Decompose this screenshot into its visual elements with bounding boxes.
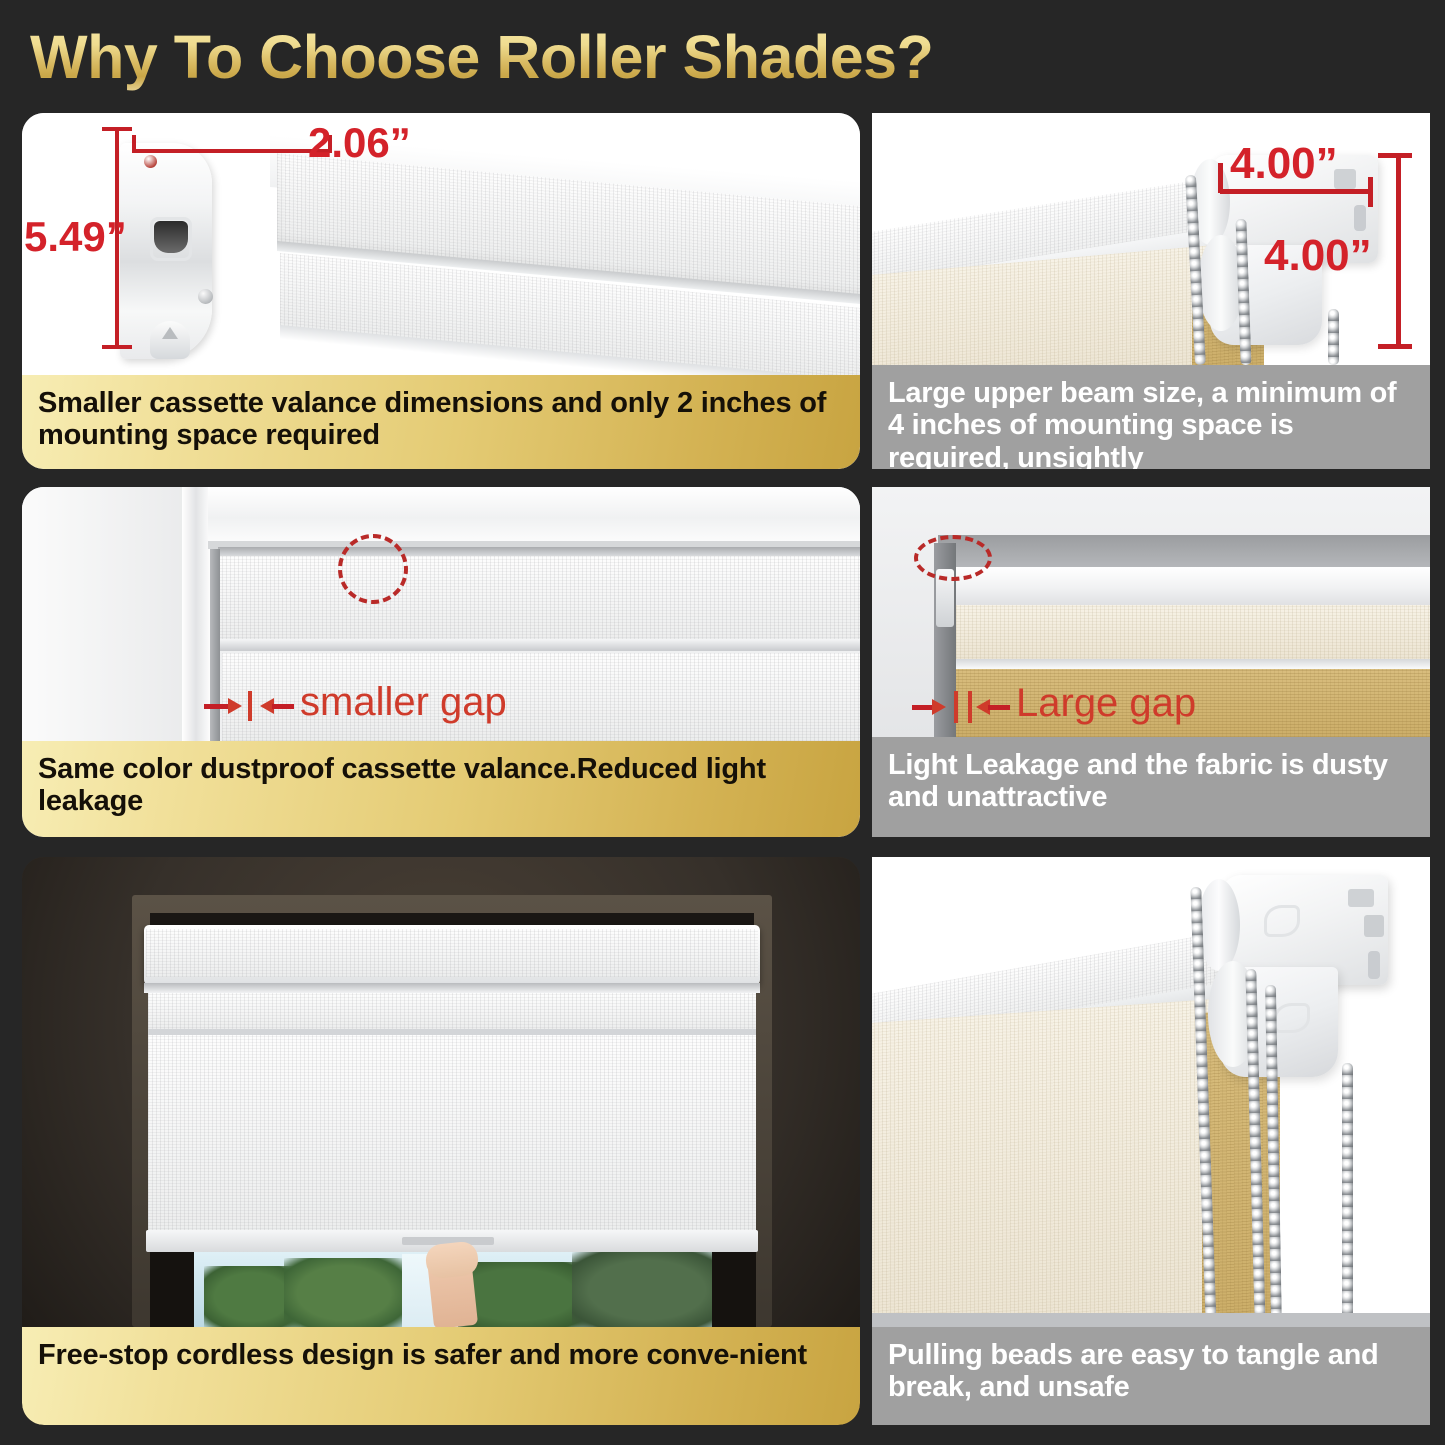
gap-marker-bar2 bbox=[968, 691, 972, 723]
gap-marker-bar bbox=[954, 691, 958, 723]
gap-arrow-left-head bbox=[228, 698, 242, 714]
cordless-window-photo bbox=[22, 857, 860, 1327]
panel-caption-large-beam: Large upper beam size, a minimum of 4 in… bbox=[872, 365, 1430, 469]
pulling-beads-photo bbox=[872, 857, 1430, 1327]
panel-large-beam-dimensions[interactable]: 4.00” 4.00” Large upper beam size, a min… bbox=[872, 113, 1430, 469]
width-dimension-tick-right bbox=[1368, 177, 1373, 207]
panel-caption-light-leakage: Light Leakage and the fabric is dusty an… bbox=[872, 737, 1430, 837]
light-leakage-photo: Large gap bbox=[872, 487, 1430, 737]
panel-light-leakage-gap[interactable]: Large gap Light Leakage and the fabric i… bbox=[872, 487, 1430, 837]
cassette-valance-photo: 2.06” 5.49” bbox=[22, 113, 860, 375]
panel-cordless-window[interactable]: Free-stop cordless design is safer and m… bbox=[22, 857, 860, 1425]
height-dimension-tick-bottom bbox=[102, 345, 132, 349]
width-dimension-line bbox=[132, 149, 332, 153]
width-dimension-line bbox=[1220, 189, 1372, 194]
height-dimension-tick-bottom bbox=[1378, 344, 1412, 349]
panel-caption-dustproof-cassette: Same color dustproof cassette valance.Re… bbox=[22, 741, 860, 837]
width-dimension-tick-left bbox=[1218, 163, 1223, 193]
width-dimension-label: 4.00” bbox=[1230, 139, 1338, 189]
bead-chain-right bbox=[1342, 1063, 1353, 1327]
panel-pulling-beads[interactable]: Pulling beads are easy to tangle and bre… bbox=[872, 857, 1430, 1425]
gap-highlight-circle bbox=[914, 535, 992, 581]
height-dimension-tick-top bbox=[102, 127, 132, 131]
gap-arrow-left-head bbox=[932, 699, 946, 715]
height-dimension-label: 5.49” bbox=[24, 213, 127, 261]
height-dimension-tick-top bbox=[1378, 153, 1412, 158]
gap-label: smaller gap bbox=[300, 680, 507, 725]
width-dimension-label: 2.06” bbox=[308, 119, 411, 167]
gap-marker-bar bbox=[248, 691, 252, 721]
width-dimension-tick-left bbox=[132, 135, 136, 153]
panel-caption-cassette-dimensions: Smaller cassette valance dimensions and … bbox=[22, 375, 860, 469]
bead-chain-right bbox=[1328, 309, 1339, 365]
gap-arrow-right bbox=[272, 704, 294, 709]
gap-label: Large gap bbox=[1016, 681, 1196, 726]
cassette-gap-photo: smaller gap bbox=[22, 487, 860, 741]
height-dimension-label: 4.00” bbox=[1264, 231, 1372, 281]
comparison-grid: 2.06” 5.49” Smaller cassette valance dim… bbox=[0, 0, 1445, 1445]
panel-dustproof-cassette-gap[interactable]: smaller gap Same color dustproof cassett… bbox=[22, 487, 860, 837]
large-beam-photo: 4.00” 4.00” bbox=[872, 113, 1430, 365]
panel-caption-cordless: Free-stop cordless design is safer and m… bbox=[22, 1327, 860, 1425]
height-dimension-line bbox=[1396, 153, 1401, 349]
panel-cassette-dimensions[interactable]: 2.06” 5.49” Smaller cassette valance dim… bbox=[22, 113, 860, 469]
gap-highlight-circle bbox=[338, 534, 408, 604]
gap-arrow-right bbox=[988, 705, 1010, 710]
panel-caption-pulling-beads: Pulling beads are easy to tangle and bre… bbox=[872, 1327, 1430, 1425]
